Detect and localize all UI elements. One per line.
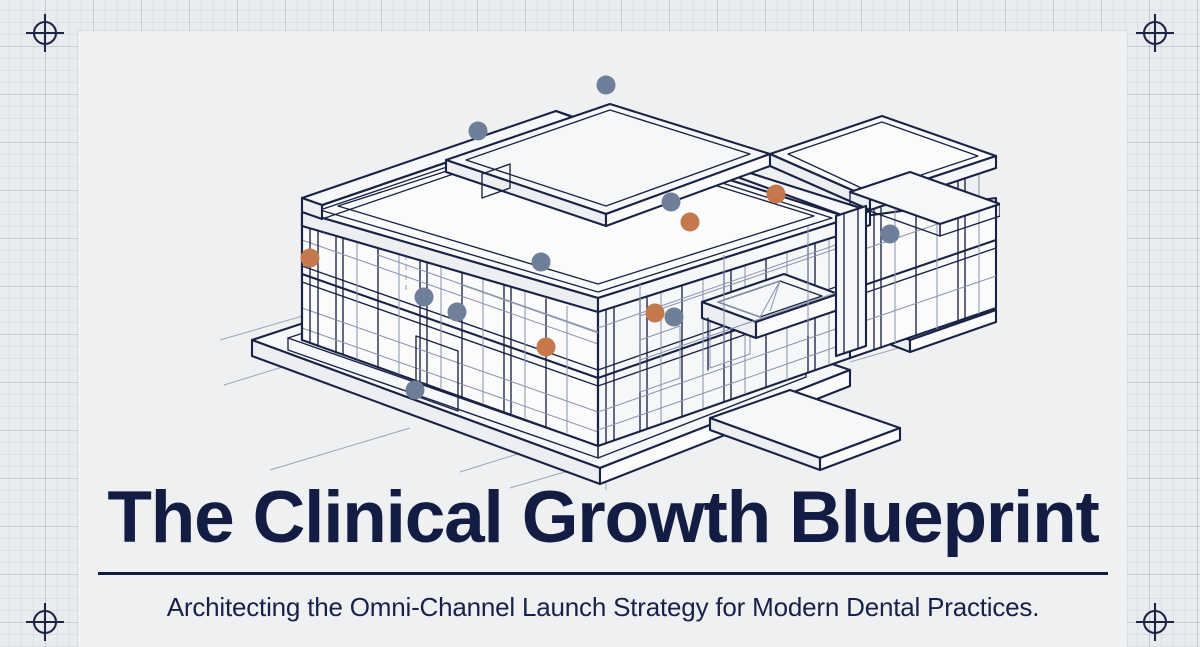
slide-canvas: .ln{fill:none;stroke:#1b2345;stroke-widt…	[0, 0, 1200, 647]
crosshair-target-icon-top-left	[22, 10, 68, 56]
blueprint-node-marker	[448, 303, 467, 322]
blueprint-node-marker	[415, 288, 434, 307]
blueprint-node-marker	[881, 225, 900, 244]
blueprint-node-marker	[301, 249, 320, 268]
blueprint-node-marker	[681, 213, 700, 232]
blueprint-node-marker	[469, 122, 488, 141]
blueprint-node-marker	[646, 304, 665, 323]
page-title: The Clinical Growth Blueprint	[98, 478, 1108, 558]
blueprint-node-marker	[597, 76, 616, 95]
title-divider-rule	[98, 572, 1108, 575]
blueprint-node-marker	[767, 185, 786, 204]
blueprint-node-marker	[537, 338, 556, 357]
blueprint-node-marker	[662, 193, 681, 212]
page-subtitle: Architecting the Omni-Channel Launch Str…	[98, 591, 1108, 623]
crosshair-target-icon-bottom-right	[1132, 599, 1178, 645]
crosshair-target-icon-bottom-left	[22, 599, 68, 645]
title-block: The Clinical Growth Blueprint Architecti…	[98, 478, 1108, 623]
isometric-building-blueprint: .ln{fill:none;stroke:#1b2345;stroke-widt…	[210, 40, 1000, 490]
blueprint-node-marker	[406, 381, 425, 400]
blueprint-node-marker	[665, 308, 684, 327]
crosshair-target-icon-top-right	[1132, 10, 1178, 56]
service-core-column	[836, 206, 866, 356]
blueprint-node-marker	[532, 253, 551, 272]
